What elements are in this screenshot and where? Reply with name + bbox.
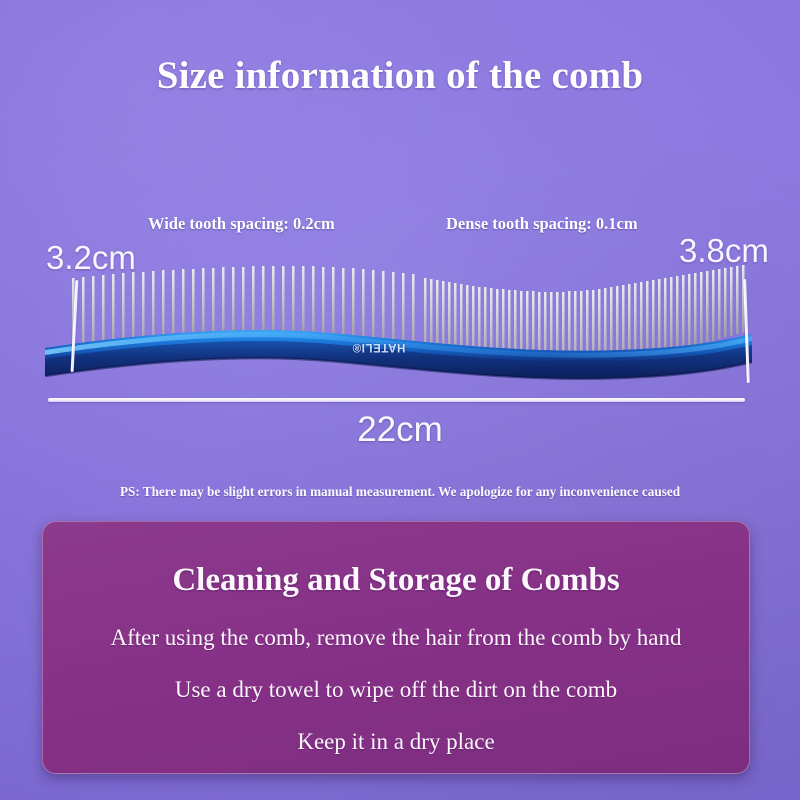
care-panel: Cleaning and Storage of Combs After usin… bbox=[42, 521, 750, 774]
measurement-disclaimer: PS: There may be slight errors in manual… bbox=[0, 484, 800, 500]
care-instruction-item: After using the comb, remove the hair fr… bbox=[43, 625, 749, 651]
total-length-label: 22cm bbox=[0, 410, 800, 450]
total-length-rule bbox=[48, 398, 745, 402]
wide-tooth-spacing-label: Wide tooth spacing: 0.2cm bbox=[148, 214, 335, 234]
dense-tooth-spacing-label: Dense tooth spacing: 0.1cm bbox=[446, 214, 638, 234]
right-height-label: 3.8cm bbox=[679, 232, 769, 270]
brand-mark: HATELI® bbox=[352, 341, 405, 353]
page-title: Size information of the comb bbox=[0, 53, 800, 98]
care-instruction-item: Use a dry towel to wipe off the dirt on … bbox=[43, 677, 749, 703]
care-instruction-list: After using the comb, remove the hair fr… bbox=[43, 625, 749, 774]
infographic-page: Size information of the comb Wide tooth … bbox=[0, 0, 800, 800]
care-instruction-item: Keep it in a dry place bbox=[43, 729, 749, 755]
care-panel-heading: Cleaning and Storage of Combs bbox=[43, 562, 749, 599]
left-height-label: 3.2cm bbox=[46, 239, 136, 277]
comb-spine bbox=[45, 330, 752, 379]
